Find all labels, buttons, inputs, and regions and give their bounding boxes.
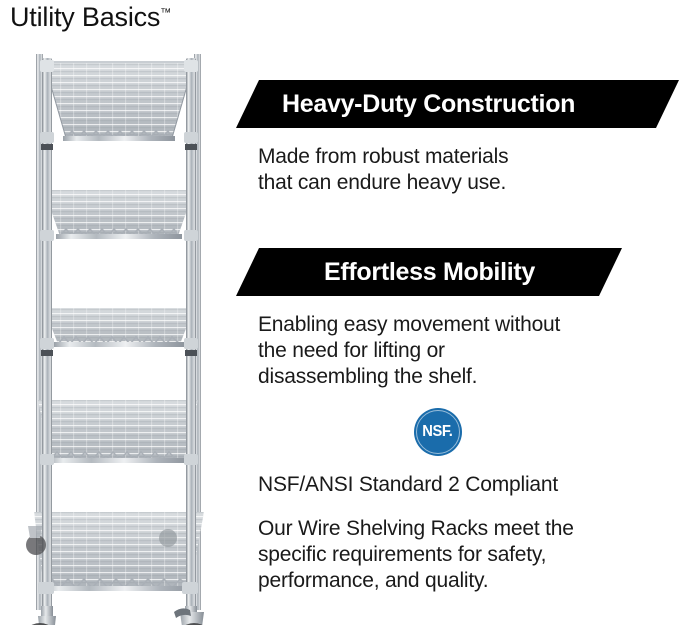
shelf-5 <box>34 512 204 591</box>
certification-body-line-1: Our Wire Shelving Racks meet the <box>258 516 679 542</box>
shelving-illustration <box>8 40 234 625</box>
spacer <box>236 128 679 144</box>
spacer <box>236 498 679 516</box>
feature-2-banner: Effortless Mobility <box>236 248 679 296</box>
feature-2-body-line-3: disassembling the shelf. <box>258 364 679 390</box>
feature-content-column: Heavy-Duty Construction Made from robust… <box>236 80 679 625</box>
product-image-wire-shelving-rack <box>8 40 234 625</box>
feature-1-title: Heavy-Duty Construction <box>236 90 575 119</box>
banner-shape-effortless-mobility: Effortless Mobility <box>236 248 622 296</box>
caster-front-right <box>174 606 213 625</box>
feature-1-banner: Heavy-Duty Construction <box>236 80 679 128</box>
shelf-4 <box>38 400 198 463</box>
feature-1-body-line-1: Made from robust materials <box>258 144 679 170</box>
caster-rear-right <box>159 529 177 547</box>
certification-body-line-3: performance, and quality. <box>258 568 679 594</box>
feature-1-body: Made from robust materials that can endu… <box>236 144 679 196</box>
spacer <box>236 296 679 312</box>
feature-1-body-line-2: that can endure heavy use. <box>258 170 679 196</box>
trademark-symbol: ™ <box>160 7 171 19</box>
feature-2-title: Effortless Mobility <box>236 258 535 287</box>
banner-shape-heavy-duty: Heavy-Duty Construction <box>236 80 679 128</box>
nsf-badge-label: NSF. <box>422 423 452 441</box>
shelf-1 <box>44 62 194 141</box>
spacer <box>236 456 679 472</box>
feature-2-body-line-2: the need for lifting or <box>258 338 679 364</box>
spacer <box>236 196 679 248</box>
nsf-badge-row: NSF. <box>236 408 679 456</box>
certification-body: Our Wire Shelving Racks meet the specifi… <box>236 516 679 594</box>
shelf-2 <box>44 190 194 239</box>
certification-headline: NSF/ANSI Standard 2 Compliant <box>236 472 679 498</box>
certification-body-line-2: specific requirements for safety, <box>258 542 679 568</box>
spacer <box>236 390 679 408</box>
shelf-3 <box>44 308 194 347</box>
brand-name: Utility Basics <box>10 2 160 32</box>
infographic-page: Utility Basics™ <box>0 0 679 630</box>
page-title: Utility Basics™ <box>10 2 171 33</box>
nsf-logo-icon: NSF. <box>414 408 462 456</box>
feature-2-body: Enabling easy movement without the need … <box>236 312 679 390</box>
feature-2-body-line-1: Enabling easy movement without <box>258 312 679 338</box>
